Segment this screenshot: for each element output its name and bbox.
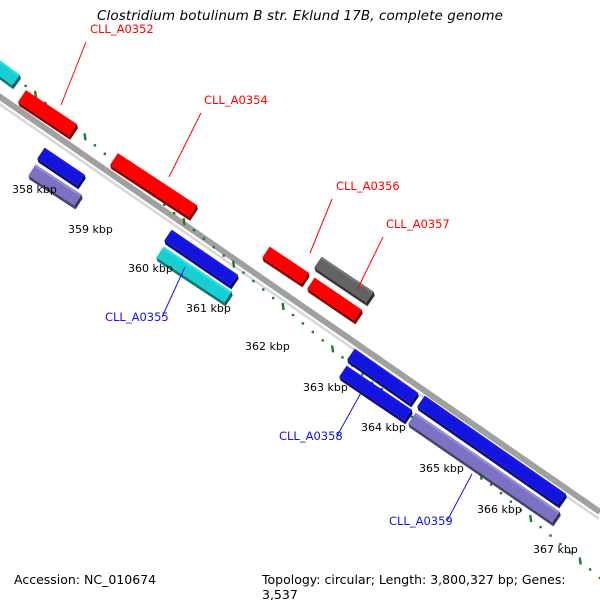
tick-mark-minor — [322, 339, 324, 341]
tick-mark-minor — [203, 237, 205, 239]
tick-mark-minor — [252, 280, 254, 282]
tick-mark-major — [184, 218, 185, 225]
kbp-tick-label: 360 kbp — [128, 262, 173, 275]
tick-mark-minor — [222, 254, 224, 256]
tick-mark-minor — [549, 534, 551, 536]
label-leader-line — [61, 42, 86, 105]
gene-label-CLL_A0359[interactable]: CLL_A0359 — [389, 514, 453, 528]
tick-mark-minor — [173, 212, 175, 214]
tick-mark-minor — [292, 314, 294, 316]
tick-mark-major — [580, 558, 581, 565]
gene-body[interactable] — [417, 396, 565, 505]
tick-mark-major — [332, 345, 333, 352]
kbp-tick-label: 365 kbp — [419, 462, 464, 475]
gene-label-CLL_A0356[interactable]: CLL_A0356 — [336, 179, 400, 193]
tick-mark-minor — [272, 297, 274, 299]
genome-map-viewer[interactable]: 358 kbp359 kbp360 kbp361 kbp362 kbp363 k… — [0, 0, 600, 600]
gene-label-CLL_A0357[interactable]: CLL_A0357 — [386, 217, 450, 231]
kbp-tick-label: 359 kbp — [68, 223, 113, 236]
gene-label-CLL_A0354[interactable]: CLL_A0354 — [204, 93, 268, 107]
kbp-tick-label: 361 kbp — [186, 302, 231, 315]
tick-mark-minor — [341, 356, 343, 358]
gene-feature[interactable] — [417, 396, 566, 509]
tick-mark-minor — [242, 271, 244, 273]
page-title: Clostridium botulinum B str. Eklund 17B,… — [0, 8, 600, 24]
label-leader-line — [310, 199, 332, 253]
genome-map-canvas[interactable]: 358 kbp359 kbp360 kbp361 kbp362 kbp363 k… — [0, 0, 600, 600]
tick-mark-minor — [24, 85, 26, 87]
label-leader-line — [357, 237, 383, 290]
gene-label-CLL_A0355[interactable]: CLL_A0355 — [105, 310, 169, 324]
tick-mark-minor — [213, 246, 215, 248]
tick-mark-minor — [539, 526, 541, 528]
tick-mark-minor — [262, 288, 264, 290]
gene-label-CLL_A0352[interactable]: CLL_A0352 — [90, 22, 154, 36]
accession-status: Accession: NC_010674 — [14, 572, 156, 587]
kbp-tick-label: 367 kbp — [533, 543, 578, 556]
kbp-tick-label: 363 kbp — [303, 381, 348, 394]
tick-mark-minor — [312, 331, 314, 333]
tick-mark-major — [283, 303, 284, 310]
kbp-tick-label: 364 kbp — [361, 421, 406, 434]
axis-line — [0, 90, 600, 512]
tick-mark-major — [530, 515, 531, 522]
tick-mark-major — [233, 261, 234, 268]
tick-mark-major — [85, 133, 86, 140]
tick-mark-minor — [193, 229, 195, 231]
kbp-tick-label: 362 kbp — [245, 340, 290, 353]
kbp-tick-label: 366 kbp — [477, 503, 522, 516]
tick-mark-minor — [589, 568, 591, 570]
tick-mark-minor — [94, 144, 96, 146]
gene-bevel-bottom — [417, 406, 559, 508]
tick-label-layer: 358 kbp359 kbp360 kbp361 kbp362 kbp363 k… — [12, 183, 578, 556]
label-leader-line — [169, 113, 201, 177]
tick-mark-minor — [302, 322, 304, 324]
tick-mark-minor — [500, 492, 502, 494]
tick-mark-layer — [0, 49, 600, 580]
gene-feature[interactable] — [0, 53, 21, 89]
gene-label-layer[interactable]: CLL_A0352CLL_A0354CLL_A0356CLL_A0357CLL_… — [90, 22, 453, 528]
kbp-tick-label: 358 kbp — [12, 183, 57, 196]
genome-summary-status: Topology: circular; Length: 3,800,327 bp… — [262, 572, 600, 600]
tick-mark-minor — [104, 153, 106, 155]
gene-label-CLL_A0358[interactable]: CLL_A0358 — [279, 429, 343, 443]
